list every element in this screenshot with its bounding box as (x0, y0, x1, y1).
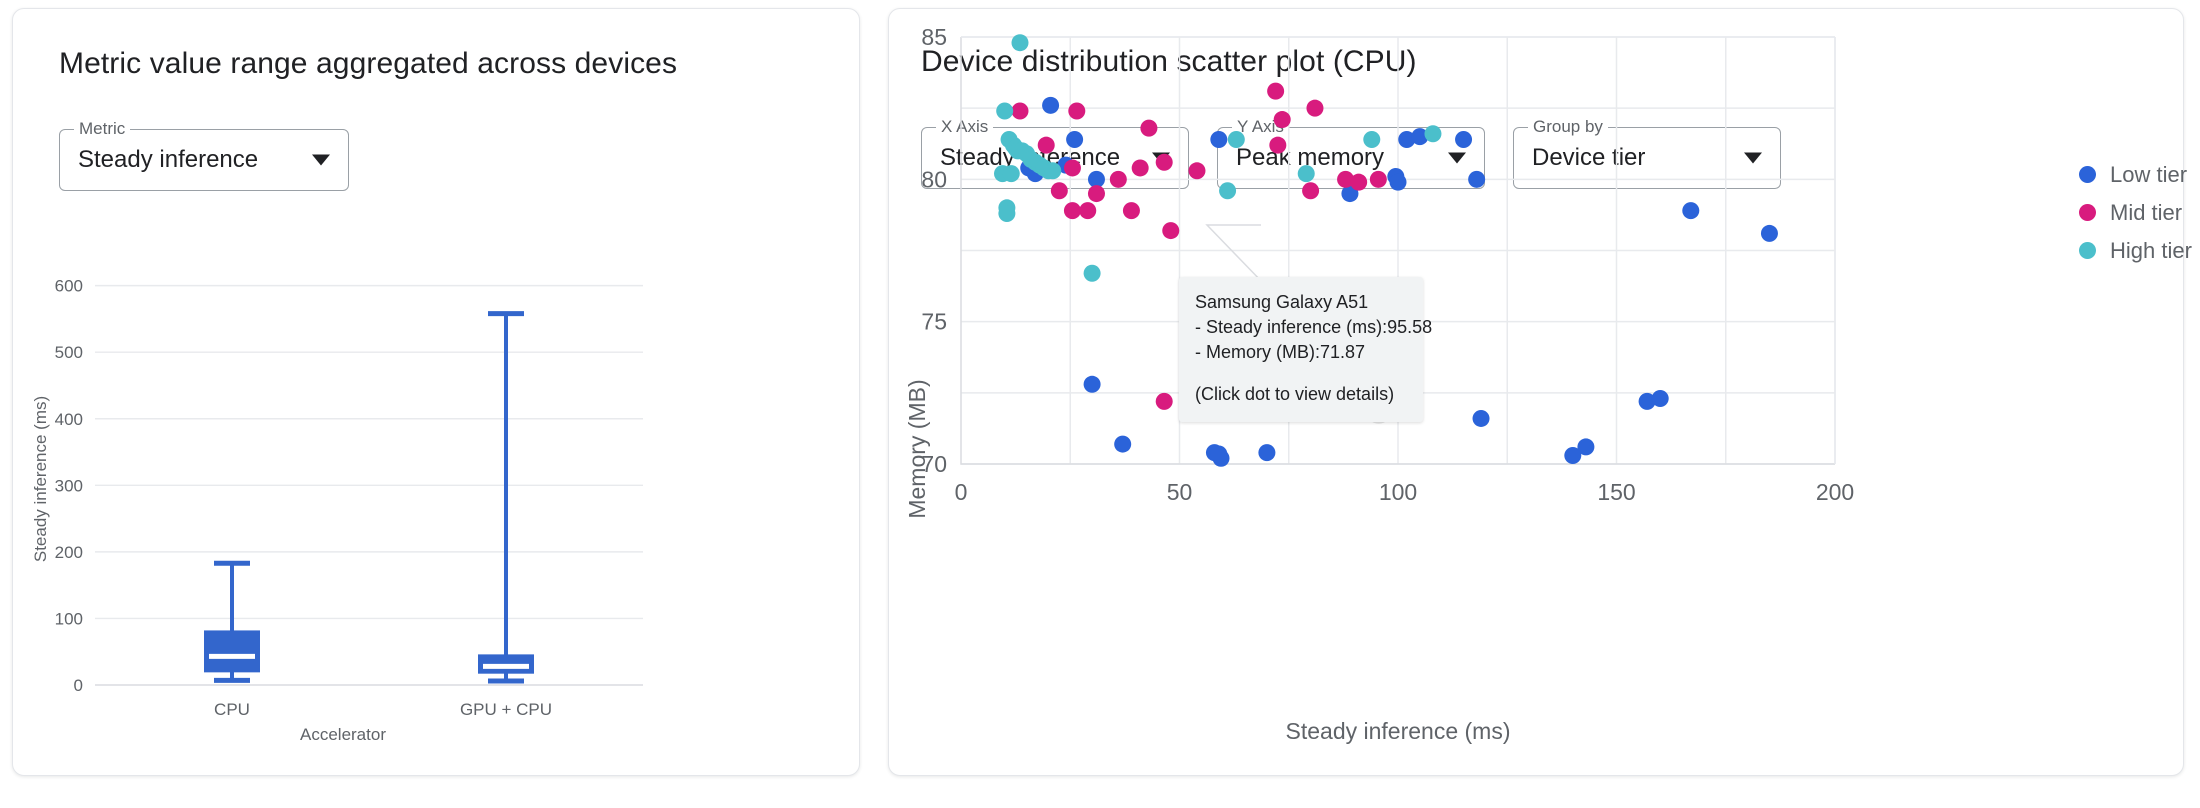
scatter-point[interactable] (1140, 120, 1157, 137)
scatter-point[interactable] (1219, 182, 1236, 199)
scatter-legend: Low tier Mid tier High tier (2079, 161, 2192, 275)
scatter-point[interactable] (1042, 97, 1059, 114)
scatter-point[interactable] (1156, 393, 1173, 410)
box-plot-gridlines (95, 286, 643, 685)
legend-item[interactable]: Low tier (2079, 161, 2192, 188)
scatter-point[interactable] (1455, 131, 1472, 148)
svg-text:600: 600 (55, 277, 83, 296)
legend-dot-low-tier (2079, 166, 2096, 183)
scatter-point[interactable] (1302, 182, 1319, 199)
svg-text:150: 150 (1597, 479, 1635, 505)
scatter-point[interactable] (1210, 446, 1227, 463)
scatter-point[interactable] (1044, 162, 1061, 179)
scatter-tick-labels: 70758085050100150200 (921, 24, 1854, 505)
box-plot-box[interactable] (204, 563, 260, 680)
scatter-point[interactable] (1132, 159, 1149, 176)
scatter-point[interactable] (1682, 202, 1699, 219)
scatter-chart: 70758085050100150200 Memory (MB) Steady … (889, 9, 2185, 777)
scatter-plot-card: Device distribution scatter plot (CPU) X… (888, 8, 2184, 776)
scatter-point[interactable] (1274, 111, 1291, 128)
scatter-point[interactable] (1038, 137, 1055, 154)
scatter-point-highlighted[interactable] (1370, 402, 1388, 420)
scatter-point[interactable] (1156, 154, 1173, 171)
scatter-point[interactable] (1424, 125, 1441, 142)
legend-item[interactable]: High tier (2079, 237, 2192, 264)
legend-label: Low tier (2110, 162, 2187, 188)
scatter-point[interactable] (1088, 185, 1105, 202)
svg-text:CPU: CPU (214, 700, 250, 719)
svg-text:80: 80 (921, 166, 947, 192)
dashboard-root: Metric value range aggregated across dev… (0, 0, 2200, 808)
svg-text:200: 200 (55, 543, 83, 562)
svg-text:75: 75 (921, 309, 947, 335)
svg-text:85: 85 (921, 24, 947, 50)
scatter-point[interactable] (1306, 100, 1323, 117)
legend-label: High tier (2110, 238, 2192, 264)
box-plot-series (204, 314, 534, 681)
scatter-point[interactable] (1003, 165, 1020, 182)
scatter-point[interactable] (1068, 103, 1085, 120)
scatter-point[interactable] (1350, 174, 1367, 191)
scatter-point[interactable] (1223, 384, 1240, 401)
legend-label: Mid tier (2110, 200, 2182, 226)
svg-text:0: 0 (955, 479, 968, 505)
svg-text:500: 500 (55, 343, 83, 362)
box-plot-y-ticks: 0100200300400500600 (55, 277, 83, 695)
scatter-point[interactable] (998, 205, 1015, 222)
box-plot-chart: 0100200300400500600 CPUGPU + CPU Steady … (13, 9, 861, 777)
svg-text:200: 200 (1816, 479, 1854, 505)
scatter-point[interactable] (1468, 171, 1485, 188)
scatter-point[interactable] (1011, 103, 1028, 120)
scatter-point[interactable] (1363, 131, 1380, 148)
scatter-point[interactable] (1761, 225, 1778, 242)
svg-text:100: 100 (55, 609, 83, 628)
scatter-point[interactable] (1228, 131, 1245, 148)
scatter-point[interactable] (1064, 159, 1081, 176)
scatter-point[interactable] (1162, 222, 1179, 239)
scatter-point[interactable] (1473, 410, 1490, 427)
svg-text:0: 0 (74, 676, 83, 695)
scatter-point[interactable] (1079, 202, 1096, 219)
tooltip-pointer-tail (1207, 225, 1383, 407)
scatter-point[interactable] (1390, 174, 1407, 191)
svg-text:50: 50 (1167, 479, 1193, 505)
scatter-point[interactable] (1210, 131, 1227, 148)
scatter-y-axis-title: Memory (MB) (904, 379, 930, 518)
svg-text:GPU + CPU: GPU + CPU (460, 700, 552, 719)
metric-range-card: Metric value range aggregated across dev… (12, 8, 860, 776)
box-plot-box[interactable] (478, 314, 534, 681)
scatter-point[interactable] (1064, 202, 1081, 219)
scatter-gridlines (961, 37, 1835, 464)
scatter-point[interactable] (1258, 444, 1275, 461)
scatter-point[interactable] (1267, 83, 1284, 100)
scatter-point[interactable] (1084, 265, 1101, 282)
scatter-point[interactable] (1051, 182, 1068, 199)
box-plot-x-axis-title: Accelerator (300, 725, 386, 744)
box-plot-y-axis-title: Steady inference (ms) (31, 396, 50, 562)
scatter-point[interactable] (996, 103, 1013, 120)
scatter-x-axis-title: Steady inference (ms) (1286, 718, 1511, 744)
scatter-point[interactable] (1084, 376, 1101, 393)
scatter-point[interactable] (1370, 171, 1387, 188)
scatter-point[interactable] (1066, 131, 1083, 148)
scatter-point[interactable] (1652, 390, 1669, 407)
scatter-point[interactable] (1188, 162, 1205, 179)
legend-dot-high-tier (2079, 242, 2096, 259)
scatter-point[interactable] (1269, 137, 1286, 154)
scatter-point[interactable] (1123, 202, 1140, 219)
scatter-point[interactable] (1110, 171, 1127, 188)
box-plot-x-ticks: CPUGPU + CPU (214, 700, 552, 719)
svg-text:100: 100 (1379, 479, 1417, 505)
legend-item[interactable]: Mid tier (2079, 199, 2192, 226)
svg-text:300: 300 (55, 476, 83, 495)
legend-dot-mid-tier (2079, 204, 2096, 221)
scatter-point[interactable] (1577, 438, 1594, 455)
scatter-point[interactable] (1114, 436, 1131, 453)
svg-text:400: 400 (55, 410, 83, 429)
scatter-point[interactable] (1298, 165, 1315, 182)
scatter-point[interactable] (1011, 34, 1028, 51)
